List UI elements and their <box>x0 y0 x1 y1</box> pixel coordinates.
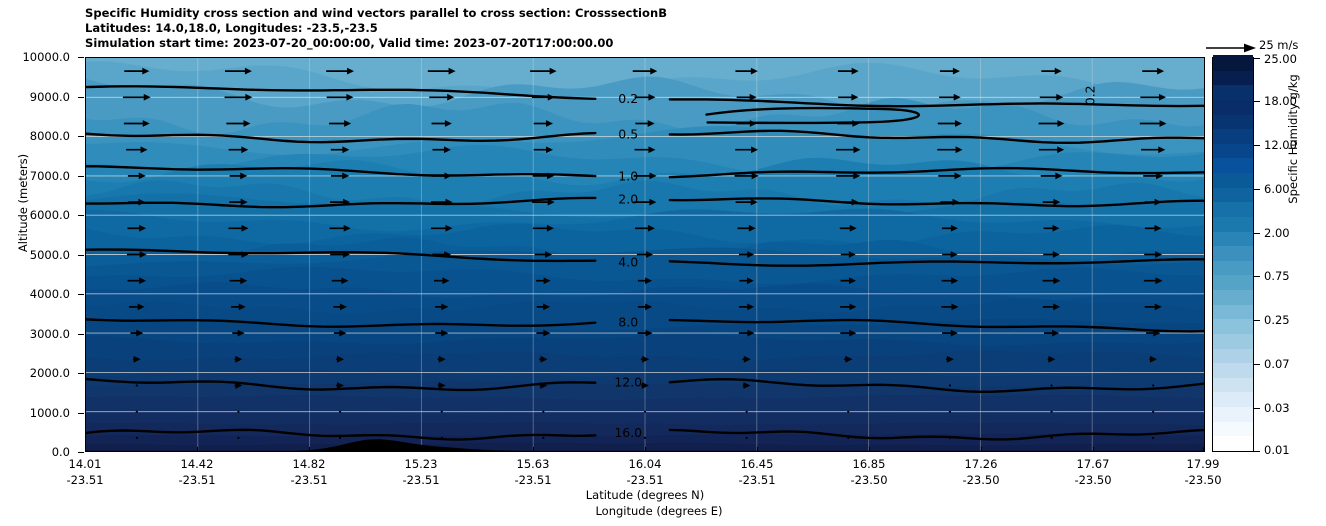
colorbar-tick-mark <box>1254 276 1260 277</box>
colorbar-tick-mark <box>1254 320 1260 321</box>
page-title: Specific Humidity cross section and wind… <box>85 6 1205 52</box>
x-tick-label: 16.04-23.51 <box>626 456 663 488</box>
x-tick-mark <box>1093 447 1094 452</box>
wind-vector-dot <box>949 411 951 413</box>
plot-canvas: 0.20.51.02.04.08.012.016.00.2 <box>86 58 1204 451</box>
colorbar-band <box>1213 216 1253 231</box>
x-axis-labels: Latitude (degrees N) Longitude (degrees … <box>85 487 1205 519</box>
colorbar-band <box>1213 246 1253 261</box>
x-tick-latitude: 14.82 <box>290 456 327 472</box>
wind-vector-dot <box>1050 411 1052 413</box>
y-tick-mark <box>78 413 84 414</box>
colorbar-band <box>1213 187 1253 202</box>
wind-vector-dot <box>746 437 748 439</box>
contour-label: 4.0 <box>618 254 638 269</box>
x-tick-longitude: -23.51 <box>626 472 663 488</box>
y-axis: 0.01000.02000.03000.04000.05000.06000.07… <box>0 57 78 452</box>
colorbar-tick-mark <box>1254 58 1260 59</box>
x-tick-label: 14.01-23.51 <box>66 456 103 488</box>
x-tick-longitude: -23.50 <box>962 472 999 488</box>
x-tick-label: 17.67-23.50 <box>1074 456 1111 488</box>
x-tick-mark <box>533 447 534 452</box>
x-tick-latitude: 15.63 <box>514 456 551 472</box>
colorbar: 0.010.030.070.250.752.006.0012.0018.0025… <box>1212 57 1254 452</box>
x-tick-label: 14.82-23.51 <box>290 456 327 488</box>
contour-label: 8.0 <box>618 315 638 330</box>
title-line-3: Simulation start time: 2023-07-20_00:00:… <box>85 36 1205 51</box>
y-tick-label: 10000.0 <box>22 50 70 64</box>
wind-vector-dot <box>746 411 748 413</box>
wind-vector-dot <box>644 437 646 439</box>
colorbar-tick-mark <box>1254 408 1260 409</box>
x-tick-latitude: 16.85 <box>850 456 887 472</box>
y-tick-mark <box>78 255 84 256</box>
wind-vector-dot <box>441 411 443 413</box>
wind-vector-dot <box>136 437 138 439</box>
y-tick-mark <box>78 373 84 374</box>
colorbar-band <box>1213 129 1253 144</box>
x-tick-latitude: 17.99 <box>1184 456 1221 472</box>
wind-vector-dot <box>237 411 239 413</box>
x-tick-latitude: 14.01 <box>66 456 103 472</box>
x-tick-label: 17.26-23.50 <box>962 456 999 488</box>
y-tick-label: 9000.0 <box>30 90 70 104</box>
colorbar-band <box>1213 202 1253 217</box>
x-tick-label: 17.99-23.50 <box>1184 456 1221 488</box>
colorbar-band <box>1213 377 1253 392</box>
x-tick-latitude: 16.45 <box>738 456 775 472</box>
wind-vector-dot <box>949 437 951 439</box>
wind-vector-dot <box>339 437 341 439</box>
x-tick-longitude: -23.51 <box>738 472 775 488</box>
x-tick-mark <box>869 447 870 452</box>
colorbar-tick-mark <box>1254 233 1260 234</box>
wind-vector-dot <box>644 411 646 413</box>
wind-vector-dot <box>1050 384 1052 386</box>
y-tick-label: 6000.0 <box>30 208 70 222</box>
x-tick-mark <box>981 447 982 452</box>
colorbar-band <box>1213 158 1253 173</box>
colorbar-tick-label: 0.01 <box>1264 443 1290 457</box>
x-tick-latitude: 17.26 <box>962 456 999 472</box>
contour-label: 0.2 <box>618 91 638 106</box>
colorbar-band <box>1213 392 1253 407</box>
wind-vector-dot <box>1152 437 1154 439</box>
x-tick-latitude: 14.42 <box>178 456 215 472</box>
colorbar-band <box>1213 85 1253 100</box>
wind-vector-dot <box>1152 411 1154 413</box>
colorbar-band <box>1213 231 1253 246</box>
y-tick-label: 3000.0 <box>30 327 70 341</box>
colorbar-tick-mark <box>1254 451 1260 452</box>
colorbar-tick-mark <box>1254 189 1260 190</box>
y-tick-mark <box>78 452 84 453</box>
x-tick-label: 16.45-23.51 <box>738 456 775 488</box>
colorbar-band <box>1213 421 1253 436</box>
x-tick-longitude: -23.51 <box>402 472 439 488</box>
y-tick-label: 7000.0 <box>30 169 70 183</box>
y-tick-label: 8000.0 <box>30 129 70 143</box>
colorbar-band <box>1213 290 1253 305</box>
colorbar-band <box>1213 99 1253 114</box>
colorbar-tick-label: 0.25 <box>1264 313 1290 327</box>
colorbar-tick-label: 0.03 <box>1264 401 1290 415</box>
wind-vector-dot <box>1152 384 1154 386</box>
y-tick-label: 2000.0 <box>30 366 70 380</box>
wind-vector-dot <box>237 437 239 439</box>
x-tick-mark <box>645 447 646 452</box>
colorbar-tick-mark <box>1254 101 1260 102</box>
x-tick-latitude: 16.04 <box>626 456 663 472</box>
colorbar-band <box>1213 275 1253 290</box>
contour-label: 2.0 <box>618 191 638 206</box>
x-tick-mark <box>421 447 422 452</box>
x-tick-longitude: -23.51 <box>66 472 103 488</box>
wind-vector-dot <box>542 411 544 413</box>
colorbar-tick-label: 0.07 <box>1264 357 1290 371</box>
x-tick-longitude: -23.50 <box>850 472 887 488</box>
colorbar-band <box>1213 172 1253 187</box>
y-tick-mark <box>78 176 84 177</box>
x-tick-longitude: -23.51 <box>514 472 551 488</box>
colorbar-label: Specific Humidity g/kg <box>1286 24 1300 254</box>
colorbar-tick-mark <box>1254 145 1260 146</box>
x-tick-label: 15.23-23.51 <box>402 456 439 488</box>
y-tick-mark <box>78 136 84 137</box>
right-arrow-icon <box>1206 42 1256 54</box>
colorbar-band <box>1213 143 1253 158</box>
colorbar-band <box>1213 319 1253 334</box>
x-tick-mark <box>197 447 198 452</box>
y-tick-label: 1000.0 <box>30 406 70 420</box>
colorbar-band <box>1213 363 1253 378</box>
x-tick-latitude: 15.23 <box>402 456 439 472</box>
wind-vector-dot <box>441 437 443 439</box>
colorbar-band <box>1213 55 1253 70</box>
colorbar-gradient <box>1212 57 1254 452</box>
y-tick-label: 4000.0 <box>30 287 70 301</box>
y-tick-label: 5000.0 <box>30 248 70 262</box>
x-tick-label: 15.63-23.51 <box>514 456 551 488</box>
y-tick-mark <box>78 294 84 295</box>
wind-vector-dot <box>847 411 849 413</box>
contour-label: 12.0 <box>614 375 642 390</box>
x-tick-mark <box>757 447 758 452</box>
colorbar-band <box>1213 114 1253 129</box>
y-tick-mark <box>78 215 84 216</box>
contour-label: 0.5 <box>618 126 638 141</box>
x-tick-label: 14.42-23.51 <box>178 456 215 488</box>
cross-section-plot: 0.20.51.02.04.08.012.016.00.2 <box>85 57 1205 452</box>
wind-vector-dot <box>847 384 849 386</box>
colorbar-band <box>1213 304 1253 319</box>
colorbar-band <box>1213 70 1253 85</box>
x-axis-label-latitude: Latitude (degrees N) <box>85 487 1205 503</box>
title-line-1: Specific Humidity cross section and wind… <box>85 6 1205 21</box>
y-tick-mark <box>78 97 84 98</box>
y-tick-mark <box>78 57 84 58</box>
colorbar-band <box>1213 436 1253 451</box>
x-tick-mark <box>85 447 86 452</box>
x-tick-longitude: -23.50 <box>1074 472 1111 488</box>
wind-vector-dot <box>136 384 138 386</box>
colorbar-tick-label: 0.75 <box>1264 269 1290 283</box>
colorbar-band <box>1213 348 1253 363</box>
contour-label: 16.0 <box>614 425 642 440</box>
title-line-2: Latitudes: 14.0,18.0, Longitudes: -23.5,… <box>85 21 1205 36</box>
colorbar-tick-mark <box>1254 364 1260 365</box>
wind-vector-dot <box>542 437 544 439</box>
x-tick-mark <box>1203 447 1204 452</box>
x-axis-label-longitude: Longitude (degrees E) <box>113 503 1205 519</box>
x-tick-longitude: -23.50 <box>1184 472 1221 488</box>
x-tick-longitude: -23.51 <box>290 472 327 488</box>
x-tick-longitude: -23.51 <box>178 472 215 488</box>
x-tick-mark <box>309 447 310 452</box>
colorbar-band <box>1213 333 1253 348</box>
colorbar-band <box>1213 260 1253 275</box>
y-axis-label: Altitude (meters) <box>16 118 30 288</box>
contour-label-rotated: 0.2 <box>1082 85 1097 105</box>
x-tick-label: 16.85-23.50 <box>850 456 887 488</box>
wind-vector-dot <box>1050 437 1052 439</box>
y-tick-mark <box>78 334 84 335</box>
wind-vector-dot <box>136 411 138 413</box>
wind-vector-dot <box>339 411 341 413</box>
x-tick-latitude: 17.67 <box>1074 456 1111 472</box>
wind-vector-dot <box>949 384 951 386</box>
wind-vector-dot <box>847 437 849 439</box>
colorbar-band <box>1213 407 1253 422</box>
